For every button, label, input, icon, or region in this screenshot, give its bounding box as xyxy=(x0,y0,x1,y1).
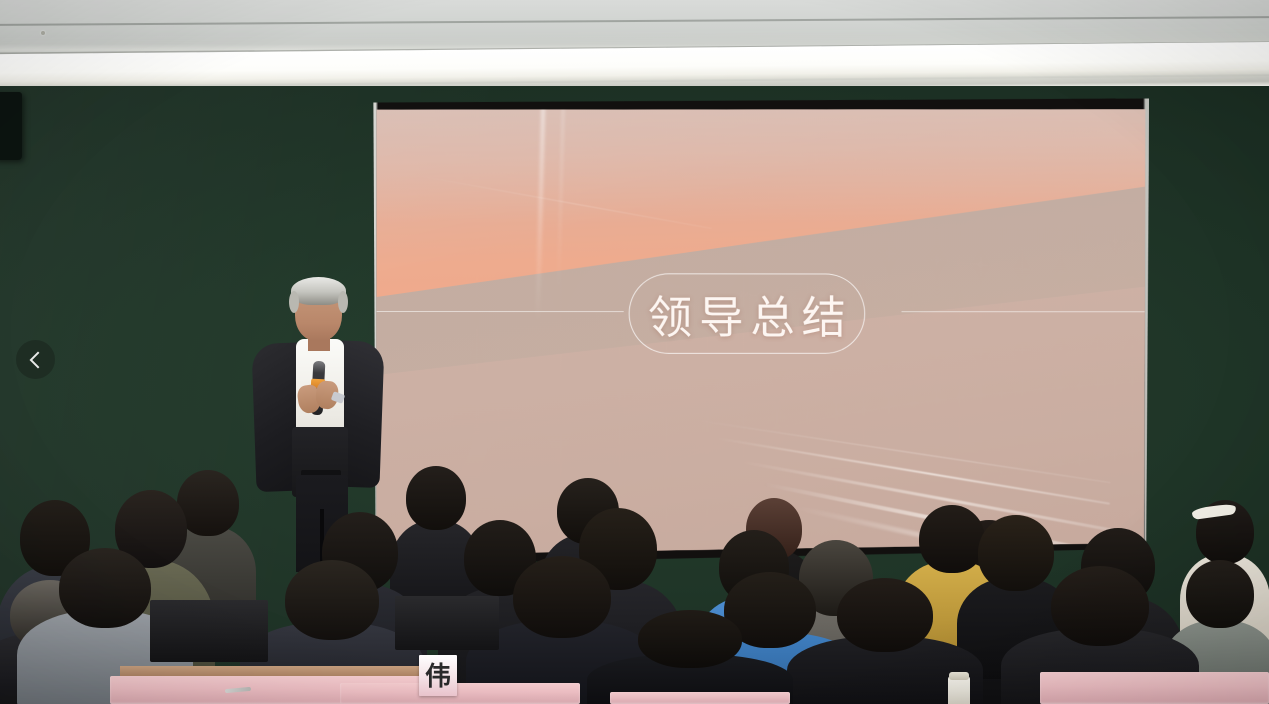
audience-head xyxy=(1186,560,1254,628)
audience-head xyxy=(513,556,611,638)
audience-member xyxy=(600,610,780,704)
slide-rule-left xyxy=(375,311,624,312)
previous-image-button[interactable] xyxy=(16,340,55,379)
slide-title-pill: 领导总结 xyxy=(629,273,865,354)
water-bottle xyxy=(948,676,970,704)
audience-head xyxy=(837,578,933,652)
nameplate: 伟 xyxy=(419,655,457,696)
laptop xyxy=(395,596,499,650)
slide-rule-right xyxy=(901,311,1145,312)
nameplate-text: 伟 xyxy=(425,663,451,689)
desk-front-right xyxy=(1040,672,1269,704)
desk-front-center xyxy=(340,683,580,704)
audience-member xyxy=(800,578,970,704)
audience-head xyxy=(285,560,379,640)
chevron-left-icon xyxy=(29,351,46,368)
laptop xyxy=(150,600,268,662)
wall-mounted-speaker xyxy=(0,92,22,160)
water-bottle-cap xyxy=(949,672,969,680)
audience-head xyxy=(638,610,742,668)
desk-front-right-2 xyxy=(610,692,790,704)
presenter-hair-side xyxy=(289,291,299,313)
slide-title-text: 领导总结 xyxy=(641,281,853,346)
screenshot-root: 领导总结 xyxy=(0,0,1269,704)
audience-head xyxy=(1051,566,1149,646)
presenter-hair-side xyxy=(338,291,348,313)
projection-screen: 领导总结 xyxy=(371,95,1149,565)
audience-head xyxy=(59,548,151,628)
ceiling-seam xyxy=(0,16,1269,26)
slide-surface: 领导总结 xyxy=(375,106,1145,555)
ceiling-screw xyxy=(41,31,45,35)
